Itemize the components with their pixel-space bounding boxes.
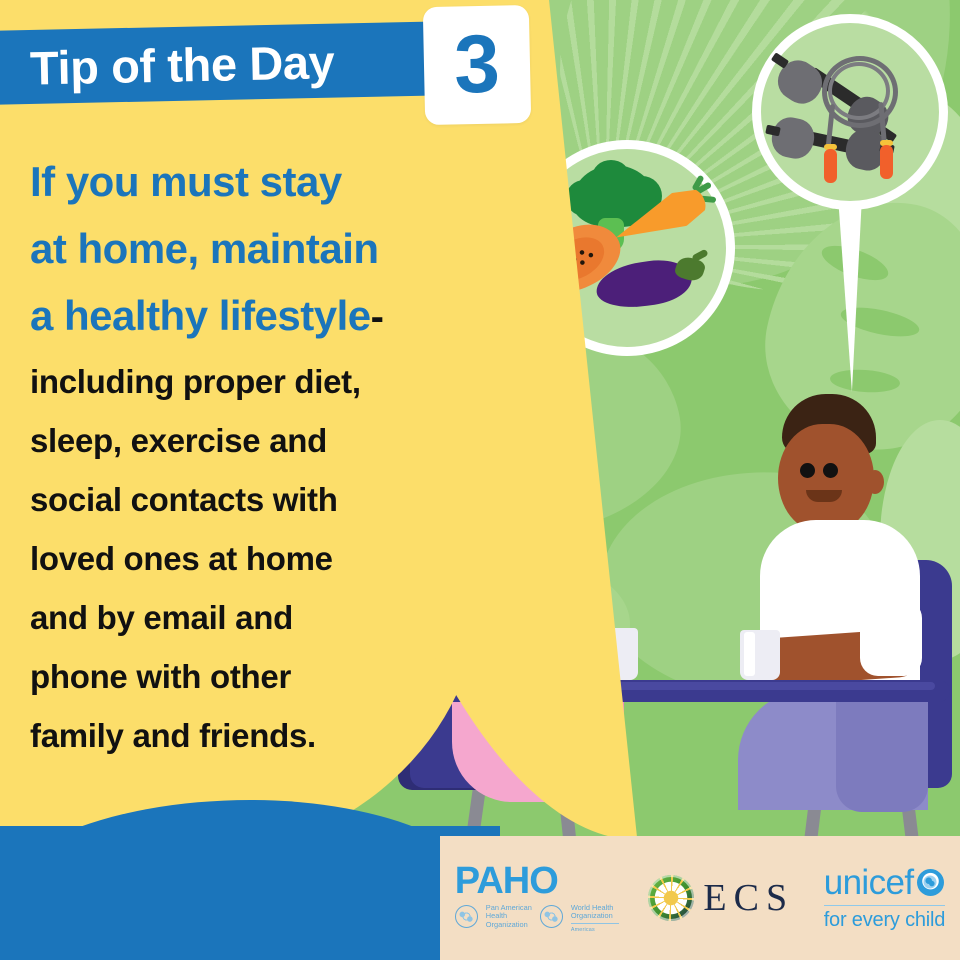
message-block: If you must stay at home, maintain a hea…	[30, 148, 460, 764]
jump-rope-icon	[824, 149, 837, 183]
unicef-row: unicef	[824, 865, 946, 901]
tip-number-card: 3	[423, 5, 531, 125]
headline-line-2: at home, maintain	[30, 215, 460, 282]
who-globe-icon	[540, 905, 563, 928]
body-line-3: social contacts with	[30, 471, 460, 528]
unicef-tagline: for every child	[824, 909, 946, 931]
who-org-line-2: Organization	[571, 911, 613, 920]
sleeve	[860, 600, 922, 676]
jump-rope-icon	[880, 145, 893, 179]
unicef-wordmark: unicef	[824, 865, 914, 901]
paho-org-name: Pan American Health Organization	[486, 904, 532, 930]
who-rule	[571, 923, 619, 924]
mug-highlight	[744, 632, 755, 676]
body-line-7: family and friends.	[30, 707, 460, 764]
eye	[800, 463, 815, 478]
headline-dash: -	[371, 295, 384, 339]
body-line-2: sleep, exercise and	[30, 412, 460, 469]
unicef-divider	[824, 905, 946, 907]
body-line-6: phone with other	[30, 648, 460, 705]
body-line-4: loved ones at home	[30, 530, 460, 587]
poster: Tip of the Day 3 If you must stay at hom…	[0, 0, 960, 960]
banner-title: Tip of the Day	[29, 27, 470, 100]
ecs-logo: ECS	[648, 875, 794, 921]
paho-org-line-3: Organization	[486, 920, 528, 929]
paho-logo: PAHO Pan American Health Organization Wo…	[455, 862, 619, 935]
paho-wordmark: PAHO	[455, 862, 619, 900]
body-line-5: and by email and	[30, 589, 460, 646]
ecs-sun-icon	[648, 875, 694, 921]
paho-sublogos: Pan American Health Organization World H…	[455, 904, 619, 935]
headline-line-1: If you must stay	[30, 148, 460, 215]
lap-shadow	[836, 690, 928, 812]
ecs-wordmark: ECS	[703, 879, 794, 917]
ear	[866, 470, 884, 494]
eye	[823, 463, 838, 478]
logo-row: PAHO Pan American Health Organization Wo…	[440, 836, 960, 960]
blue-wave-fill	[0, 826, 500, 960]
headline-line-3: a healthy lifestyle-	[30, 282, 460, 351]
unicef-emblem-icon	[917, 869, 944, 896]
tip-number: 3	[423, 5, 531, 125]
headline-line-3-text: a healthy lifestyle	[30, 292, 371, 339]
who-org-line-3: Americas	[571, 927, 595, 933]
paho-globe-icon	[455, 905, 478, 928]
who-org-name: World Health Organization Americas	[571, 904, 619, 935]
body-line-1: including proper diet,	[30, 353, 460, 410]
unicef-logo: unicef for every child	[824, 865, 946, 932]
